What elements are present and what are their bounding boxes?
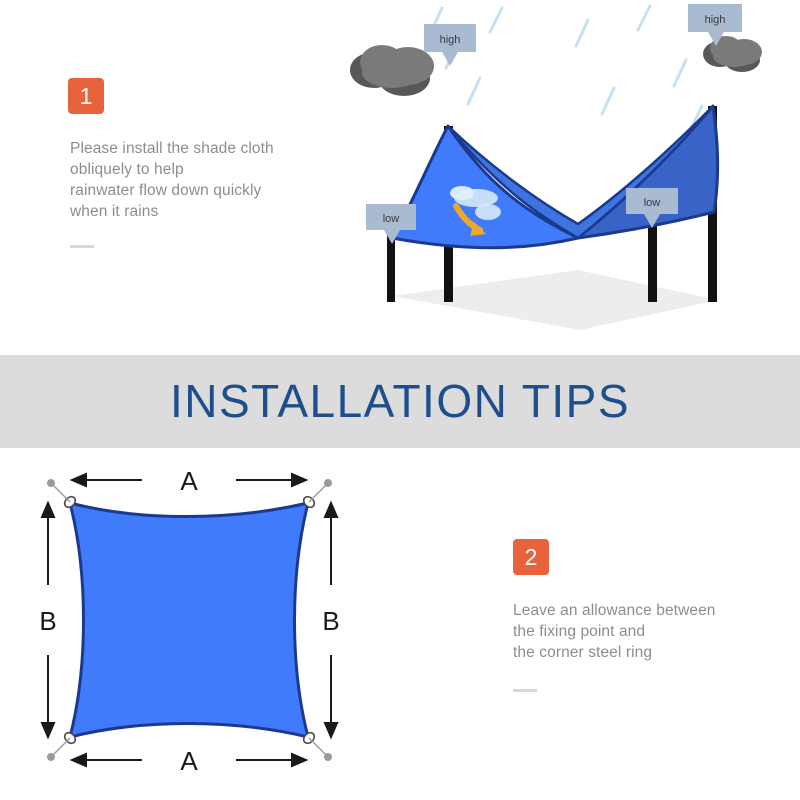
pole [387, 232, 395, 302]
fixing-point [47, 753, 55, 761]
fixing-point [324, 479, 332, 487]
rain-streak [490, 8, 502, 32]
allowance-line [51, 738, 70, 757]
page-title: INSTALLATION TIPS [0, 355, 800, 448]
dimension-label-top: A [180, 466, 198, 496]
rain-streak [638, 6, 650, 30]
step-2-divider [513, 689, 537, 692]
tag-low-left-label: low [383, 213, 400, 225]
tag-high-left-label: high [440, 34, 461, 46]
shade-sail-oblique-illustration: high high low low [330, 0, 800, 350]
cloud-right [703, 36, 762, 72]
infographic-page: 1 Please install the shade cloth oblique… [0, 0, 800, 800]
title-banner: INSTALLATION TIPS [0, 355, 800, 448]
dimension-label-bottom: A [180, 746, 198, 776]
rain-streak [602, 88, 614, 114]
step-2-badge: 2 [513, 539, 549, 575]
sail-panel-left [392, 126, 578, 248]
rain-streak [576, 20, 588, 46]
allowance-line [309, 738, 328, 757]
step-1-text: Please install the shade cloth obliquely… [70, 138, 320, 222]
step-1-divider [70, 245, 94, 248]
dimension-label-right: B [322, 606, 339, 636]
rain-streak [674, 60, 686, 86]
tag-low-right-label: low [644, 197, 661, 209]
step-2-text: Leave an allowance between the fixing po… [513, 600, 753, 663]
step-1-badge: 1 [68, 78, 104, 114]
fixing-point [47, 479, 55, 487]
cloud-left [350, 45, 434, 96]
rain-streak [468, 78, 480, 104]
fixing-point [324, 753, 332, 761]
allowance-line [51, 483, 70, 502]
square-sail-shape [70, 503, 308, 737]
tag-high-right-label: high [705, 14, 726, 26]
square-sail-dimension-diagram: A A B B [20, 455, 390, 785]
ground-shadow [392, 270, 718, 330]
allowance-line [309, 483, 328, 502]
dimension-label-left: B [39, 606, 56, 636]
